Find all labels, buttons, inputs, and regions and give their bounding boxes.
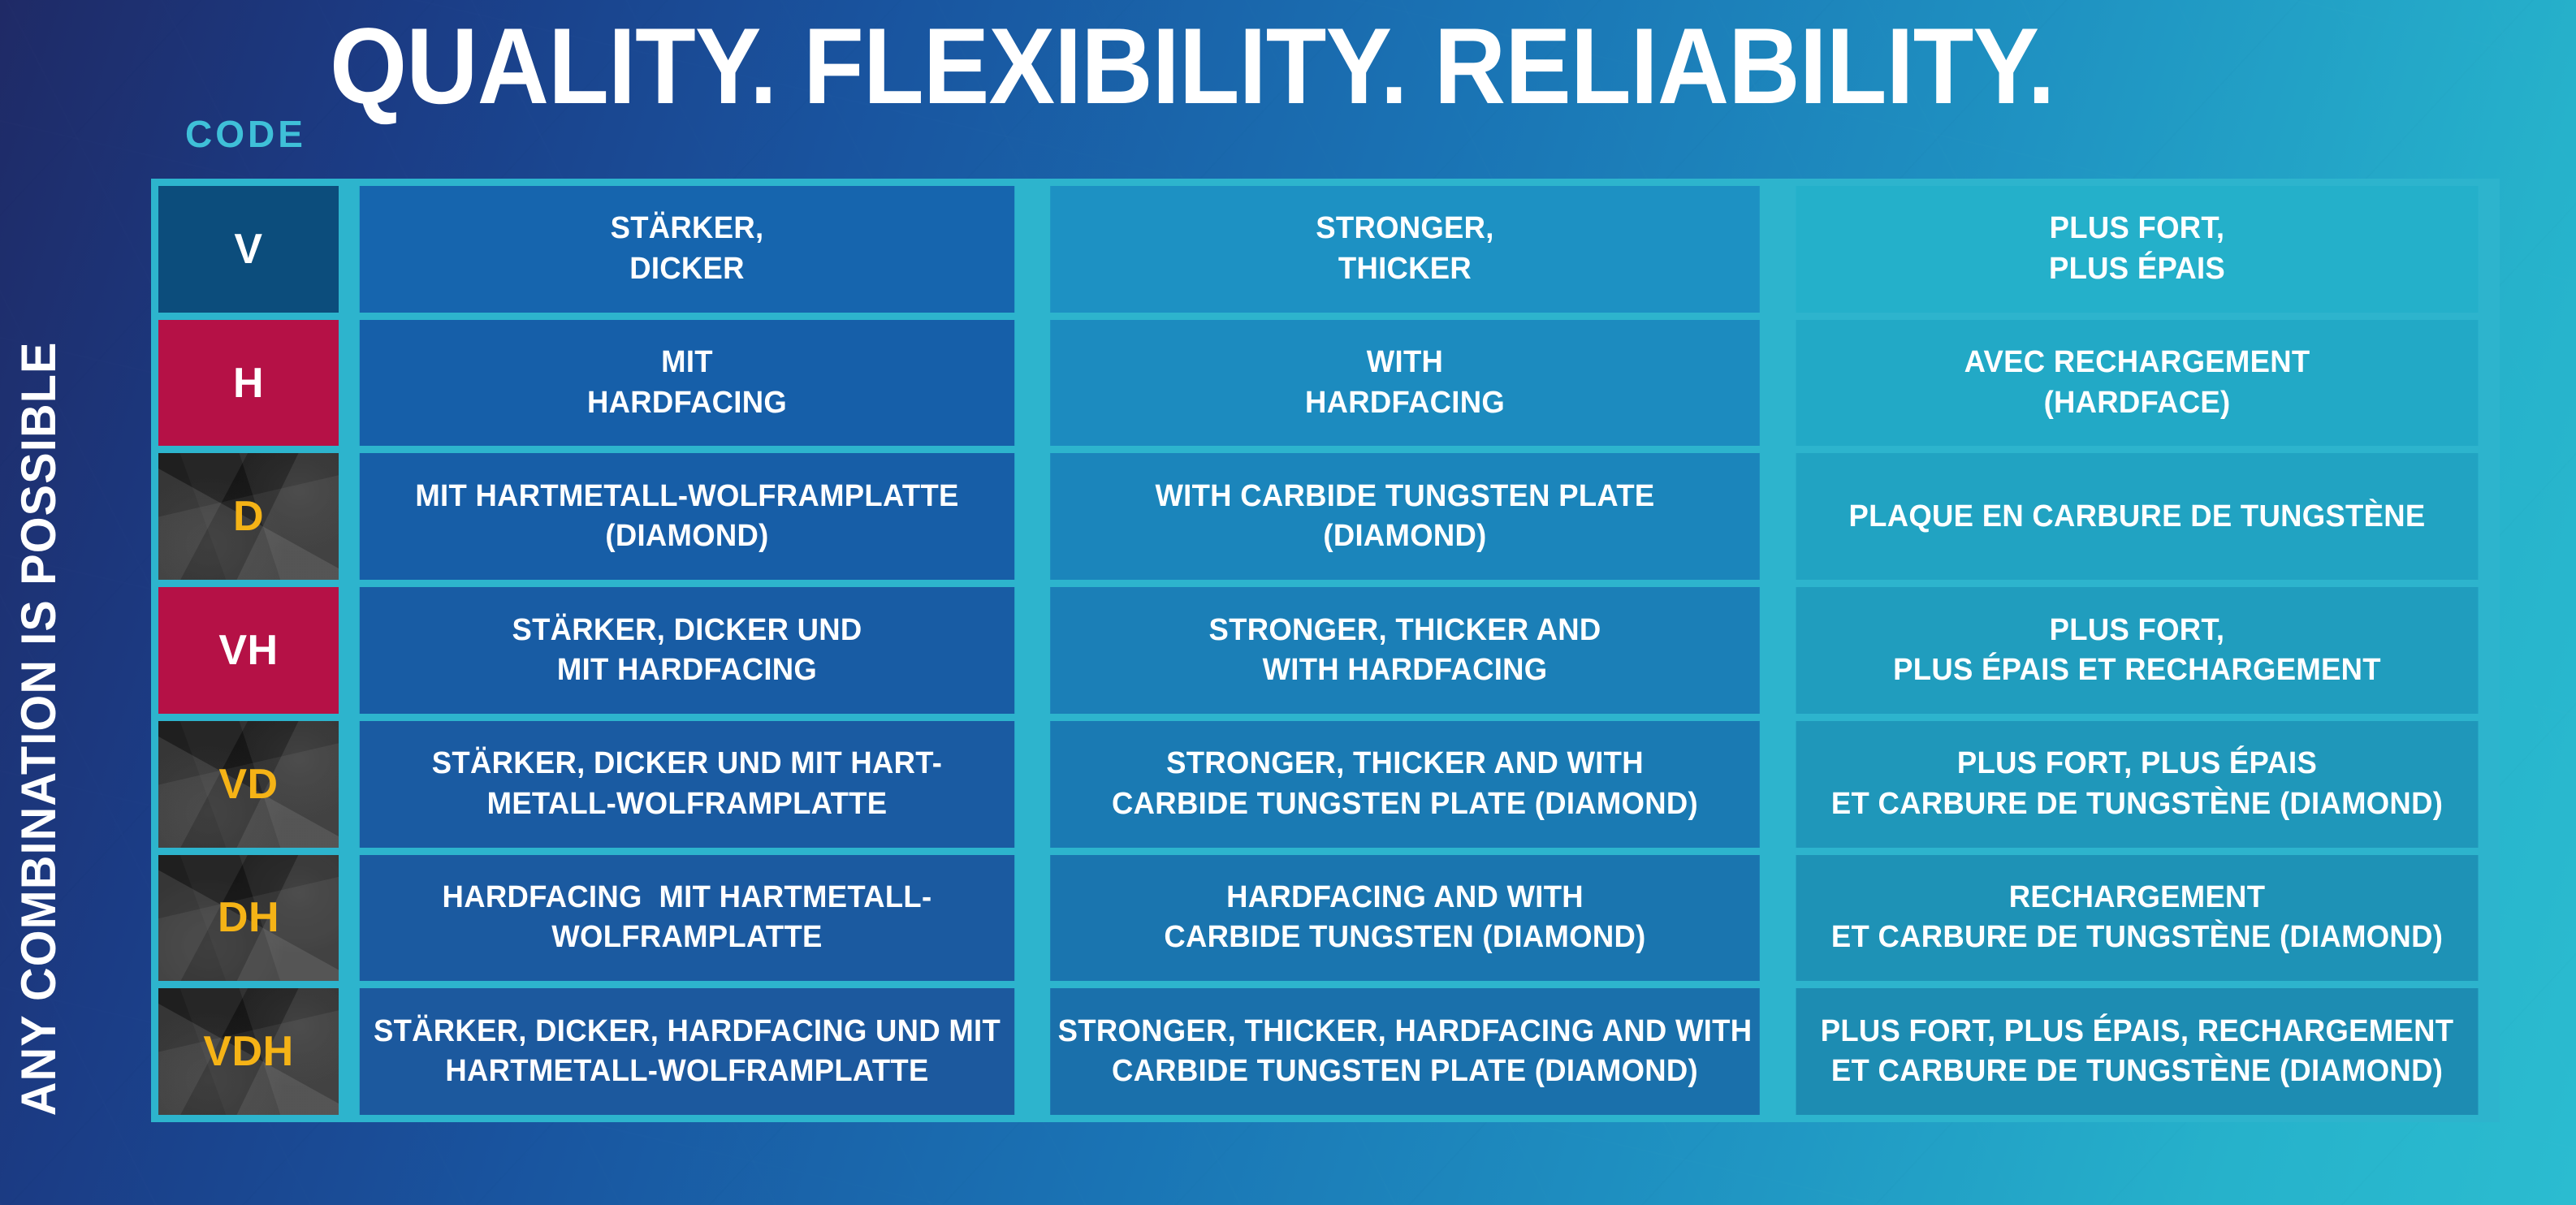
description-line: AVEC RECHARGEMENT	[1964, 343, 2310, 382]
description-line: ET CARBURE DE TUNGSTÈNE (DIAMOND)	[1831, 784, 2443, 824]
description-cell-fr: PLUS FORT,PLUS ÉPAIS ET RECHARGEMENT	[1796, 587, 2479, 714]
description-line: METALL-WOLFRAMPLATTE	[432, 784, 943, 824]
description-text: STRONGER, THICKER AND WITHCARBIDE TUNGST…	[1112, 744, 1698, 824]
description-line: PLUS ÉPAIS	[2049, 249, 2225, 289]
table-row: VDSTÄRKER, DICKER UND MIT HART-METALL-WO…	[158, 721, 2492, 848]
description-line: MIT HARDFACING	[512, 650, 862, 690]
description-cell-fr: PLUS FORT, PLUS ÉPAIS, RECHARGEMENTET CA…	[1796, 988, 2479, 1115]
description-line: STRONGER, THICKER AND	[1209, 611, 1601, 650]
code-label: H	[233, 362, 264, 404]
description-cell-en: WITHHARDFACING	[1050, 320, 1760, 447]
description-line: PLUS FORT,	[2049, 209, 2225, 248]
description-cell-fr: PLAQUE EN CARBURE DE TUNGSTÈNE	[1796, 453, 2479, 580]
description-cell-de: STÄRKER, DICKER UNDMIT HARDFACING	[360, 587, 1014, 714]
description-cell-de: HARDFACING MIT HARTMETALL-WOLFRAMPLATTE	[360, 855, 1014, 982]
description-text: PLAQUE EN CARBURE DE TUNGSTÈNE	[1849, 497, 2426, 537]
description-text: RECHARGEMENTET CARBURE DE TUNGSTÈNE (DIA…	[1831, 878, 2443, 958]
description-text: STÄRKER, DICKER UNDMIT HARDFACING	[512, 611, 862, 691]
code-cell-dh[interactable]: DH	[158, 855, 339, 982]
code-label: DH	[218, 896, 279, 939]
description-text: WITH CARBIDE TUNGSTEN PLATE(DIAMOND)	[1155, 477, 1654, 557]
code-label: D	[233, 495, 264, 538]
description-cell-fr: PLUS FORT,PLUS ÉPAIS	[1796, 186, 2479, 313]
description-cell-fr: RECHARGEMENTET CARBURE DE TUNGSTÈNE (DIA…	[1796, 855, 2479, 982]
description-text: MITHARDFACING	[587, 343, 787, 423]
description-line: STÄRKER, DICKER UND	[512, 611, 862, 650]
description-text: PLUS FORT,PLUS ÉPAIS ET RECHARGEMENT	[1893, 611, 2381, 691]
description-line: HARTMETALL-WOLFRAMPLATTE	[374, 1052, 1001, 1091]
description-line: STRONGER, THICKER AND WITH	[1112, 744, 1698, 784]
table-row: DHHARDFACING MIT HARTMETALL-WOLFRAMPLATT…	[158, 855, 2492, 982]
table-row: DMIT HARTMETALL-WOLFRAMPLATTE(DIAMOND)WI…	[158, 453, 2492, 580]
description-line: RECHARGEMENT	[1831, 878, 2443, 918]
description-line: PLUS ÉPAIS ET RECHARGEMENT	[1893, 650, 2381, 690]
description-line: PLAQUE EN CARBURE DE TUNGSTÈNE	[1849, 497, 2426, 537]
description-line: CARBIDE TUNGSTEN PLATE (DIAMOND)	[1112, 784, 1698, 824]
description-line: (DIAMOND)	[1155, 516, 1654, 556]
description-line: PLUS FORT, PLUS ÉPAIS, RECHARGEMENT	[1821, 1012, 2454, 1052]
description-line: STÄRKER, DICKER, HARDFACING UND MIT	[374, 1012, 1001, 1052]
description-line: ET CARBURE DE TUNGSTÈNE (DIAMOND)	[1831, 918, 2443, 957]
description-text: STÄRKER,DICKER	[611, 209, 764, 289]
description-text: STÄRKER, DICKER, HARDFACING UND MITHARTM…	[374, 1012, 1001, 1092]
description-text: HARDFACING AND WITHCARBIDE TUNGSTEN (DIA…	[1164, 878, 1645, 958]
table-row: HMITHARDFACINGWITHHARDFACINGAVEC RECHARG…	[158, 320, 2492, 447]
code-label: VDH	[203, 1030, 293, 1073]
description-line: HARDFACING	[587, 383, 787, 423]
description-cell-de: STÄRKER, DICKER, HARDFACING UND MITHARTM…	[360, 988, 1014, 1115]
description-line: WITH CARBIDE TUNGSTEN PLATE	[1155, 477, 1654, 516]
table-row: VSTÄRKER,DICKERSTRONGER,THICKERPLUS FORT…	[158, 186, 2492, 313]
description-text: STRONGER, THICKER, HARDFACING AND WITHCA…	[1058, 1012, 1753, 1092]
description-line: MIT HARTMETALL-WOLFRAMPLATTE	[415, 477, 958, 516]
description-line: DICKER	[611, 249, 764, 289]
description-line: CARBIDE TUNGSTEN (DIAMOND)	[1164, 918, 1645, 957]
header: CODE QUALITY. FLEXIBILITY. RELIABILITY.	[0, 0, 2576, 179]
description-text: WITHHARDFACING	[1305, 343, 1505, 423]
description-text: AVEC RECHARGEMENT(HARDFACE)	[1964, 343, 2310, 423]
description-text: PLUS FORT, PLUS ÉPAISET CARBURE DE TUNGS…	[1831, 744, 2443, 824]
description-cell-en: STRONGER, THICKER, HARDFACING AND WITHCA…	[1050, 988, 1760, 1115]
description-line: CARBIDE TUNGSTEN PLATE (DIAMOND)	[1058, 1052, 1753, 1091]
description-line: HARDFACING MIT HARTMETALL-	[443, 878, 932, 918]
description-cell-fr: AVEC RECHARGEMENT(HARDFACE)	[1796, 320, 2479, 447]
description-cell-en: HARDFACING AND WITHCARBIDE TUNGSTEN (DIA…	[1050, 855, 1760, 982]
description-line: STRONGER,	[1316, 209, 1493, 248]
code-column-label: CODE	[185, 115, 306, 153]
description-cell-de: MIT HARTMETALL-WOLFRAMPLATTE(DIAMOND)	[360, 453, 1014, 580]
code-label: V	[234, 228, 262, 270]
side-banner-label: ANY COMBINATION IS POSSIBLE	[15, 341, 63, 1121]
description-line: THICKER	[1316, 249, 1493, 289]
side-banner: ANY COMBINATION IS POSSIBLE	[0, 179, 78, 1121]
description-text: MIT HARTMETALL-WOLFRAMPLATTE(DIAMOND)	[415, 477, 958, 557]
description-text: PLUS FORT, PLUS ÉPAIS, RECHARGEMENTET CA…	[1821, 1012, 2454, 1092]
description-line: STRONGER, THICKER, HARDFACING AND WITH	[1058, 1012, 1753, 1052]
page-title: QUALITY. FLEXIBILITY. RELIABILITY.	[330, 13, 2055, 121]
description-text: PLUS FORT,PLUS ÉPAIS	[2049, 209, 2225, 289]
code-cell-d[interactable]: D	[158, 453, 339, 580]
description-text: STRONGER, THICKER ANDWITH HARDFACING	[1209, 611, 1601, 691]
table-row: VDHSTÄRKER, DICKER, HARDFACING UND MITHA…	[158, 988, 2492, 1115]
description-line: HARDFACING AND WITH	[1164, 878, 1645, 918]
code-cell-vd[interactable]: VD	[158, 721, 339, 848]
table-row: VHSTÄRKER, DICKER UNDMIT HARDFACINGSTRON…	[158, 587, 2492, 714]
code-cell-vdh[interactable]: VDH	[158, 988, 339, 1115]
description-line: WOLFRAMPLATTE	[443, 918, 932, 957]
code-combination-table: VSTÄRKER,DICKERSTRONGER,THICKERPLUS FORT…	[151, 179, 2500, 1122]
description-cell-en: STRONGER, THICKER AND WITHCARBIDE TUNGST…	[1050, 721, 1760, 848]
description-line: STÄRKER,	[611, 209, 764, 248]
description-cell-en: STRONGER,THICKER	[1050, 186, 1760, 313]
description-line: HARDFACING	[1305, 383, 1505, 423]
code-cell-vh[interactable]: VH	[158, 587, 339, 714]
description-text: STÄRKER, DICKER UND MIT HART-METALL-WOLF…	[432, 744, 943, 824]
code-label: VH	[218, 629, 278, 672]
description-text: STRONGER,THICKER	[1316, 209, 1493, 289]
description-line: STÄRKER, DICKER UND MIT HART-	[432, 744, 943, 784]
description-cell-en: STRONGER, THICKER ANDWITH HARDFACING	[1050, 587, 1760, 714]
description-line: (HARDFACE)	[1964, 383, 2310, 423]
description-line: WITH HARDFACING	[1209, 650, 1601, 690]
code-label: VD	[218, 763, 278, 805]
description-cell-de: STÄRKER, DICKER UND MIT HART-METALL-WOLF…	[360, 721, 1014, 848]
description-cell-fr: PLUS FORT, PLUS ÉPAISET CARBURE DE TUNGS…	[1796, 721, 2479, 848]
description-cell-en: WITH CARBIDE TUNGSTEN PLATE(DIAMOND)	[1050, 453, 1760, 580]
description-line: PLUS FORT, PLUS ÉPAIS	[1831, 744, 2443, 784]
code-cell-v[interactable]: V	[158, 186, 339, 313]
description-text: HARDFACING MIT HARTMETALL-WOLFRAMPLATTE	[443, 878, 932, 958]
description-line: PLUS FORT,	[1893, 611, 2381, 650]
description-cell-de: MITHARDFACING	[360, 320, 1014, 447]
description-line: ET CARBURE DE TUNGSTÈNE (DIAMOND)	[1821, 1052, 2454, 1091]
description-line: (DIAMOND)	[415, 516, 958, 556]
code-cell-h[interactable]: H	[158, 320, 339, 447]
description-line: WITH	[1305, 343, 1505, 382]
description-line: MIT	[587, 343, 787, 382]
description-cell-de: STÄRKER,DICKER	[360, 186, 1014, 313]
